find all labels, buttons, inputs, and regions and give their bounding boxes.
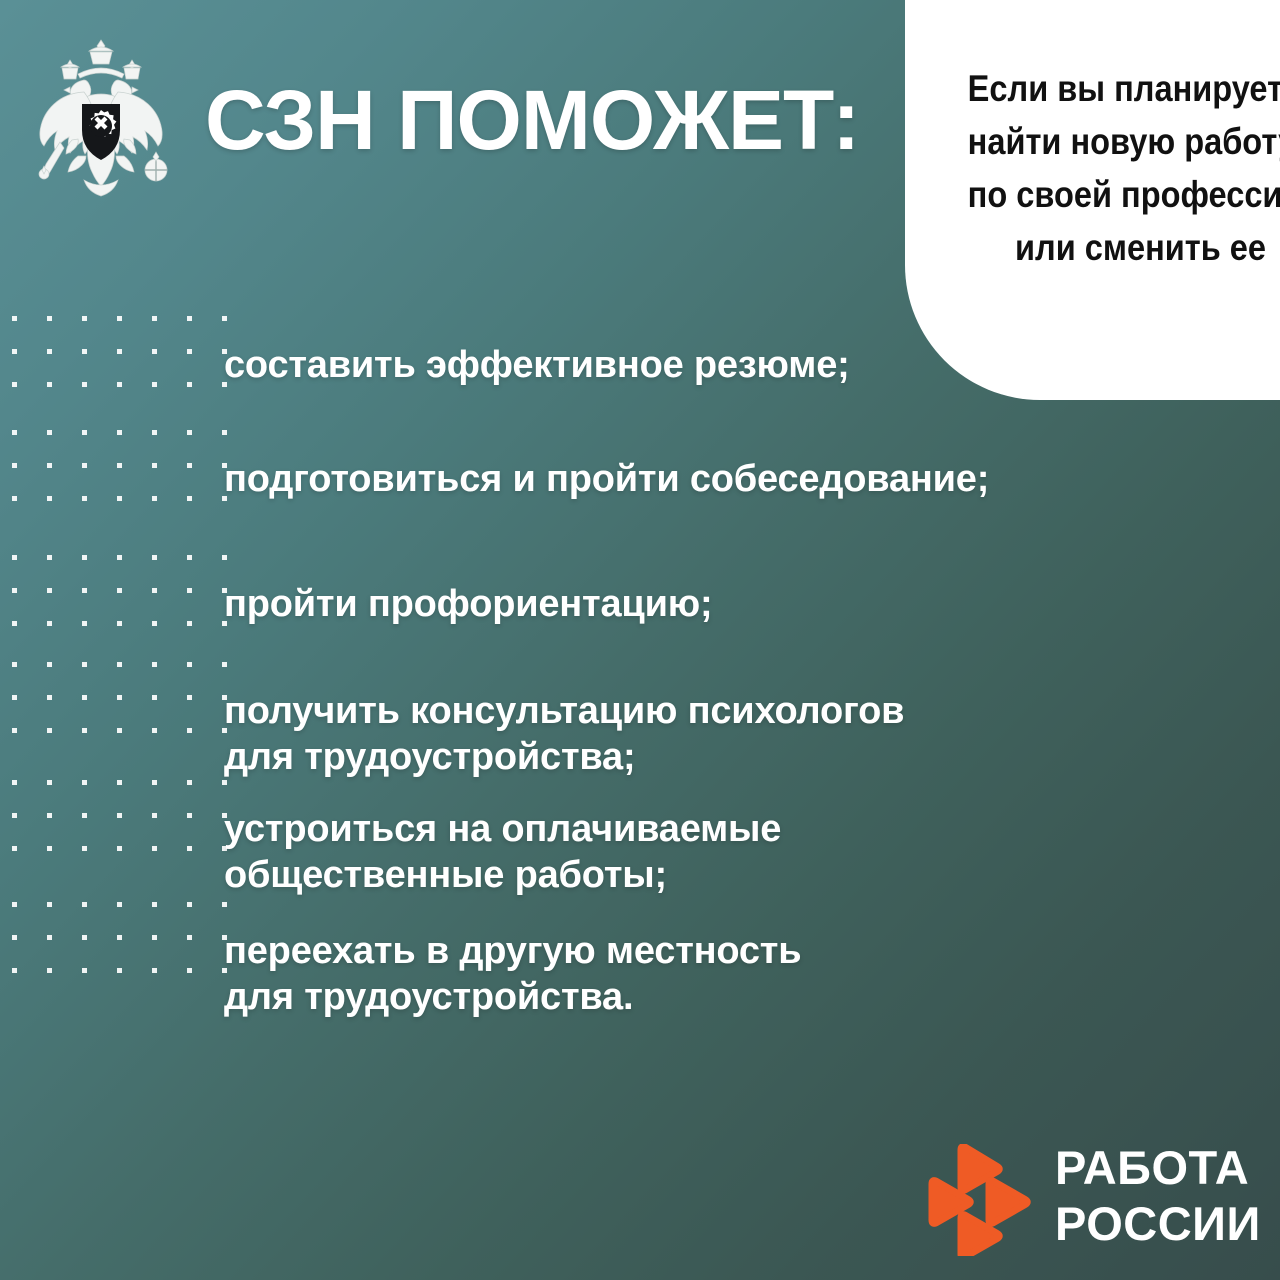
dot-grid-dot bbox=[47, 935, 52, 940]
list-item: подготовиться и пройти собеседование; bbox=[224, 456, 989, 502]
dot-grid-dot bbox=[12, 430, 17, 435]
dot-grid-dot bbox=[47, 902, 52, 907]
dot-grid-dot bbox=[117, 463, 122, 468]
dot-grid-dot bbox=[187, 813, 192, 818]
rabota-rossii-triangles-icon bbox=[925, 1144, 1043, 1256]
dot-grid-dot bbox=[12, 968, 17, 973]
dot-grid-row bbox=[0, 382, 230, 387]
dot-grid-dot bbox=[12, 662, 17, 667]
list-item-line: составить эффективное резюме; bbox=[224, 342, 850, 388]
callout-line-3: по своей профессии bbox=[968, 168, 1266, 221]
dot-grid-dot bbox=[117, 813, 122, 818]
dot-grid-dot bbox=[47, 463, 52, 468]
dot-grid-dot bbox=[152, 463, 157, 468]
dot-grid-dot bbox=[152, 382, 157, 387]
dot-grid-dot bbox=[12, 846, 17, 851]
dot-grid-dot bbox=[222, 662, 227, 667]
dot-grid-dot bbox=[152, 846, 157, 851]
callout-line-4: или сменить ее bbox=[968, 221, 1266, 274]
dot-grid-dot bbox=[47, 662, 52, 667]
dot-grid-dot bbox=[12, 316, 17, 321]
dot-grid-dot bbox=[47, 813, 52, 818]
dot-grid-dot bbox=[47, 695, 52, 700]
dot-grid-dot bbox=[12, 555, 17, 560]
dot-grid-dot bbox=[82, 935, 87, 940]
dot-grid-row bbox=[0, 968, 230, 973]
dot-grid-decoration bbox=[0, 316, 230, 1056]
dot-grid-dot bbox=[152, 555, 157, 560]
dot-grid-row bbox=[0, 588, 230, 593]
dot-grid-dot bbox=[47, 349, 52, 354]
list-item-line: устроиться на оплачиваемые bbox=[224, 806, 781, 852]
dot-grid-dot bbox=[117, 902, 122, 907]
dot-grid-dot bbox=[12, 695, 17, 700]
list-item-line: общественные работы; bbox=[224, 852, 781, 898]
logo-word-line-1: РАБОТА bbox=[1055, 1140, 1261, 1196]
dot-grid-dot bbox=[82, 588, 87, 593]
dot-grid-row bbox=[0, 555, 230, 560]
dot-grid-dot bbox=[187, 695, 192, 700]
dot-grid-dot bbox=[222, 780, 227, 785]
dot-grid-row bbox=[0, 463, 230, 468]
dot-grid-dot bbox=[82, 430, 87, 435]
dot-grid-row bbox=[0, 496, 230, 501]
dot-grid-dot bbox=[187, 555, 192, 560]
dot-grid-dot bbox=[12, 813, 17, 818]
dot-grid-dot bbox=[82, 496, 87, 501]
dot-grid-dot bbox=[12, 349, 17, 354]
dot-grid-dot bbox=[117, 349, 122, 354]
dot-grid-dot bbox=[47, 382, 52, 387]
dot-grid-dot bbox=[12, 780, 17, 785]
dot-grid-dot bbox=[222, 902, 227, 907]
dot-grid-group bbox=[0, 902, 230, 974]
list-item-line: подготовиться и пройти собеседование; bbox=[224, 456, 989, 502]
dot-grid-dot bbox=[187, 728, 192, 733]
poster-canvas: СЗН ПОМОЖЕТ: Если вы планируете найти но… bbox=[0, 0, 1280, 1280]
dot-grid-dot bbox=[12, 621, 17, 626]
dot-grid-group bbox=[0, 316, 230, 388]
dot-grid-dot bbox=[187, 316, 192, 321]
dot-grid-dot bbox=[82, 846, 87, 851]
dot-grid-dot bbox=[187, 935, 192, 940]
dot-grid-dot bbox=[117, 555, 122, 560]
dot-grid-row bbox=[0, 662, 230, 667]
dot-grid-dot bbox=[117, 695, 122, 700]
dot-grid-dot bbox=[82, 316, 87, 321]
list-item-line: для трудоустройства; bbox=[224, 734, 904, 780]
dot-grid-row bbox=[0, 349, 230, 354]
dot-grid-dot bbox=[47, 968, 52, 973]
dot-grid-dot bbox=[222, 316, 227, 321]
dot-grid-dot bbox=[222, 430, 227, 435]
dot-grid-dot bbox=[117, 728, 122, 733]
dot-grid-dot bbox=[152, 588, 157, 593]
dot-grid-dot bbox=[152, 968, 157, 973]
dot-grid-dot bbox=[47, 588, 52, 593]
dot-grid-dot bbox=[117, 968, 122, 973]
dot-grid-dot bbox=[117, 780, 122, 785]
callout-line-1: Если вы планируете bbox=[968, 62, 1266, 115]
dot-grid-dot bbox=[117, 430, 122, 435]
list-item-line: получить консультацию психологов bbox=[224, 688, 904, 734]
dot-grid-dot bbox=[47, 780, 52, 785]
list-item: пройти профориентацию; bbox=[224, 581, 712, 627]
dot-grid-row bbox=[0, 813, 230, 818]
dot-grid-dot bbox=[82, 555, 87, 560]
list-item-line: переехать в другую местность bbox=[224, 928, 801, 974]
dot-grid-dot bbox=[47, 555, 52, 560]
list-item-line: для трудоустройства. bbox=[224, 974, 801, 1020]
dot-grid-dot bbox=[152, 902, 157, 907]
logo-wordmark: РАБОТА РОССИИ bbox=[1055, 1140, 1261, 1252]
dot-grid-dot bbox=[117, 846, 122, 851]
dot-grid-dot bbox=[117, 316, 122, 321]
dot-grid-dot bbox=[82, 463, 87, 468]
list-item-line: пройти профориентацию; bbox=[224, 581, 712, 627]
dot-grid-dot bbox=[152, 662, 157, 667]
dot-grid-dot bbox=[47, 316, 52, 321]
dot-grid-row bbox=[0, 728, 230, 733]
dot-grid-group bbox=[0, 430, 230, 502]
list-item: составить эффективное резюме; bbox=[224, 342, 850, 388]
dot-grid-dot bbox=[117, 588, 122, 593]
list-item: устроиться на оплачиваемые общественные … bbox=[224, 806, 781, 898]
dot-grid-dot bbox=[152, 621, 157, 626]
dot-grid-row bbox=[0, 780, 230, 785]
dot-grid-dot bbox=[82, 728, 87, 733]
dot-grid-dot bbox=[82, 662, 87, 667]
dot-grid-dot bbox=[152, 813, 157, 818]
dot-grid-dot bbox=[82, 813, 87, 818]
dot-grid-dot bbox=[152, 935, 157, 940]
page-title: СЗН ПОМОЖЕТ: bbox=[205, 78, 859, 162]
dot-grid-dot bbox=[117, 662, 122, 667]
dot-grid-dot bbox=[82, 695, 87, 700]
dot-grid-dot bbox=[187, 588, 192, 593]
dot-grid-row bbox=[0, 430, 230, 435]
dot-grid-row bbox=[0, 316, 230, 321]
dot-grid-dot bbox=[117, 935, 122, 940]
dot-grid-dot bbox=[12, 935, 17, 940]
dot-grid-dot bbox=[12, 902, 17, 907]
dot-grid-dot bbox=[82, 382, 87, 387]
dot-grid-row bbox=[0, 695, 230, 700]
dot-grid-group bbox=[0, 555, 230, 627]
dot-grid-dot bbox=[187, 349, 192, 354]
dot-grid-dot bbox=[12, 463, 17, 468]
dot-grid-dot bbox=[187, 846, 192, 851]
dot-grid-dot bbox=[12, 496, 17, 501]
dot-grid-dot bbox=[12, 728, 17, 733]
dot-grid-group bbox=[0, 780, 230, 852]
list-item: получить консультацию психологов для тру… bbox=[224, 688, 904, 780]
dot-grid-dot bbox=[187, 902, 192, 907]
dot-grid-dot bbox=[117, 496, 122, 501]
dot-grid-dot bbox=[47, 496, 52, 501]
logo-word-line-2: РОССИИ bbox=[1055, 1196, 1261, 1252]
dot-grid-dot bbox=[82, 780, 87, 785]
dot-grid-dot bbox=[187, 430, 192, 435]
dot-grid-dot bbox=[187, 780, 192, 785]
dot-grid-dot bbox=[82, 621, 87, 626]
dot-grid-dot bbox=[187, 968, 192, 973]
dot-grid-dot bbox=[187, 621, 192, 626]
dot-grid-dot bbox=[12, 588, 17, 593]
dot-grid-dot bbox=[187, 662, 192, 667]
dot-grid-dot bbox=[47, 728, 52, 733]
dot-grid-dot bbox=[187, 382, 192, 387]
dot-grid-dot bbox=[12, 382, 17, 387]
dot-grid-dot bbox=[117, 621, 122, 626]
dot-grid-dot bbox=[152, 316, 157, 321]
dot-grid-dot bbox=[222, 555, 227, 560]
dot-grid-row bbox=[0, 621, 230, 626]
dot-grid-group bbox=[0, 662, 230, 734]
dot-grid-dot bbox=[47, 846, 52, 851]
dot-grid-row bbox=[0, 935, 230, 940]
dot-grid-dot bbox=[152, 728, 157, 733]
dot-grid-dot bbox=[82, 902, 87, 907]
dot-grid-row bbox=[0, 846, 230, 851]
dot-grid-dot bbox=[152, 430, 157, 435]
dot-grid-dot bbox=[82, 349, 87, 354]
dot-grid-dot bbox=[152, 496, 157, 501]
dot-grid-dot bbox=[152, 349, 157, 354]
dot-grid-dot bbox=[152, 695, 157, 700]
list-item: переехать в другую местность для трудоус… bbox=[224, 928, 801, 1020]
dot-grid-row bbox=[0, 902, 230, 907]
dot-grid-dot bbox=[187, 496, 192, 501]
dot-grid-dot bbox=[47, 430, 52, 435]
callout-card: Если вы планируете найти новую работу по… bbox=[905, 0, 1280, 400]
rabota-rossii-logo: РАБОТА РОССИИ bbox=[925, 1140, 1265, 1260]
russian-coat-of-arms-icon bbox=[26, 34, 176, 200]
dot-grid-dot bbox=[82, 968, 87, 973]
dot-grid-dot bbox=[47, 621, 52, 626]
dot-grid-dot bbox=[187, 463, 192, 468]
dot-grid-dot bbox=[152, 780, 157, 785]
callout-line-2: найти новую работу bbox=[968, 115, 1266, 168]
dot-grid-dot bbox=[117, 382, 122, 387]
